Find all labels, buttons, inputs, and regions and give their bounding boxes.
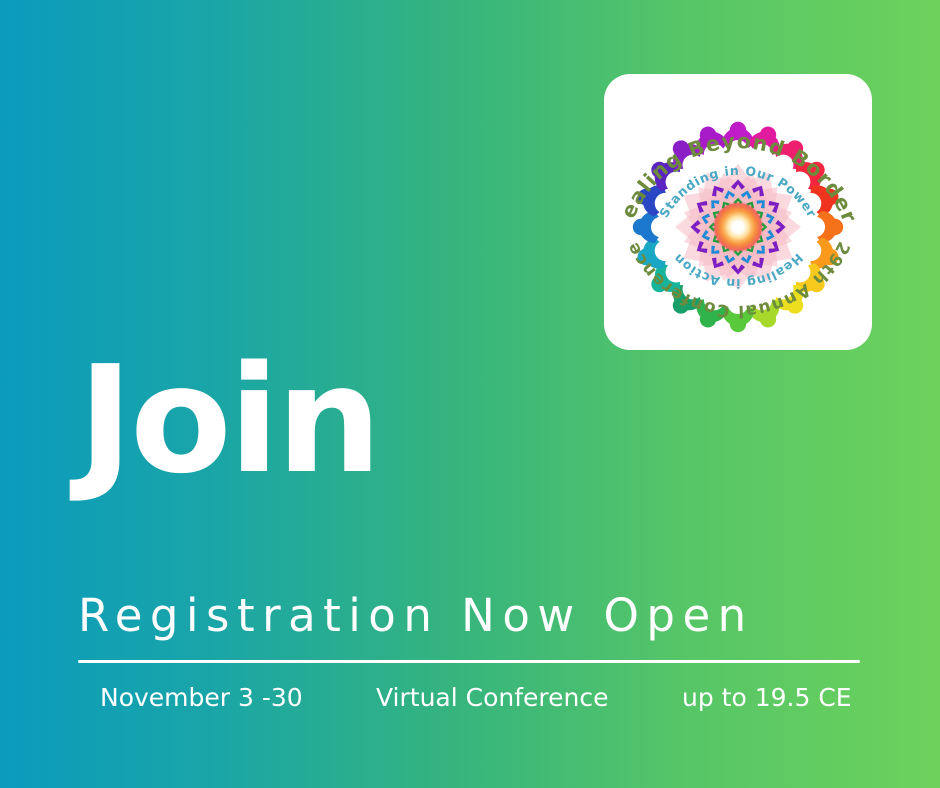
mandala-core-glow bbox=[712, 201, 764, 253]
promo-poster: Join Us. bbox=[0, 0, 940, 788]
bottom-info-block: Registration Now Open November 3 -30Virt… bbox=[78, 592, 862, 716]
divider bbox=[78, 660, 860, 663]
logo-svg: Healing Beyond Borders Standing in Our P… bbox=[607, 77, 869, 347]
info-item-1: Virtual Conference bbox=[376, 680, 609, 716]
headline-line-1: Join bbox=[78, 348, 379, 493]
logo-card: Healing Beyond Borders Standing in Our P… bbox=[604, 74, 872, 350]
sub-headline: Registration Now Open bbox=[78, 592, 862, 639]
info-item-2: up to 19.5 CE bbox=[682, 680, 852, 716]
info-row: November 3 -30Virtual Conferenceup to 19… bbox=[78, 680, 862, 716]
conference-logo: Healing Beyond Borders Standing in Our P… bbox=[604, 74, 872, 350]
headline-line-2: Us. bbox=[78, 783, 379, 788]
ring-figure-head bbox=[633, 219, 649, 235]
info-item-0: November 3 -30 bbox=[100, 680, 303, 716]
